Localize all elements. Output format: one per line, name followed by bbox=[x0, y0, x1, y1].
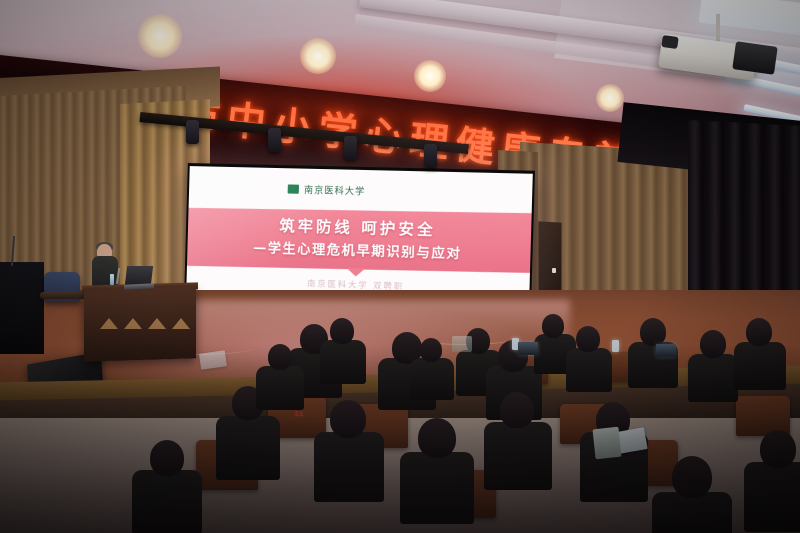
audience-member-head bbox=[268, 344, 292, 370]
laptop-icon bbox=[656, 344, 676, 357]
phone-icon bbox=[612, 340, 619, 352]
projection-screen: 南京医科大学 筑牢防线 呵护安全 —学生心理危机早期识别与应对 南京医科大学 双… bbox=[184, 163, 535, 307]
door-knob-icon[interactable] bbox=[552, 268, 556, 273]
audience-member-body bbox=[652, 492, 732, 533]
audience-member-body bbox=[566, 348, 612, 392]
laptop-icon bbox=[518, 342, 538, 355]
presenter-laptop-screen bbox=[125, 266, 153, 285]
water-bottle bbox=[110, 274, 114, 285]
projection-screen-surface: 南京医科大学 筑牢防线 呵护安全 —学生心理危机早期识别与应对 南京医科大学 双… bbox=[186, 166, 533, 303]
audience-member-body bbox=[256, 366, 304, 410]
downlight-icon bbox=[138, 14, 182, 58]
audience-member-body bbox=[410, 358, 454, 400]
university-logo-icon bbox=[288, 184, 299, 193]
slide-logo-text: 南京医科大学 bbox=[304, 183, 366, 198]
audience-member-head bbox=[150, 440, 184, 476]
audience-member-head bbox=[640, 318, 666, 346]
projector-mount bbox=[716, 14, 720, 44]
stage-spotlight-icon bbox=[344, 136, 357, 160]
stage-spotlight-icon bbox=[186, 120, 199, 144]
audience-member-head bbox=[542, 314, 564, 338]
audience-member-head bbox=[418, 418, 456, 458]
audience-member-body bbox=[688, 354, 738, 402]
audience-member-body bbox=[400, 452, 474, 524]
projector-rear-body bbox=[732, 41, 777, 75]
auditorium-photo: 全市中小学心理健康专兼职教师培训活动 南京医科大学 筑牢防线 呵护安全 —学生心… bbox=[0, 0, 800, 533]
audience-member-body bbox=[744, 462, 800, 532]
audience-member-head bbox=[746, 318, 772, 346]
stage-spotlight-icon bbox=[268, 128, 281, 152]
stage-spotlight-icon bbox=[424, 144, 437, 168]
audience-member-head bbox=[330, 318, 354, 344]
downlight-icon bbox=[300, 38, 336, 74]
tote-bag bbox=[452, 336, 472, 352]
audience-member-head bbox=[576, 326, 600, 352]
audience-member-head bbox=[500, 392, 534, 428]
audience-member-head bbox=[760, 430, 796, 468]
stage-chair-base bbox=[40, 292, 86, 299]
audience-member-body bbox=[734, 342, 786, 390]
audience-member-head bbox=[672, 456, 712, 498]
audience-member-head bbox=[420, 338, 442, 362]
audience-member-body bbox=[216, 416, 280, 480]
audience-member-body bbox=[320, 340, 366, 384]
tote-bag bbox=[593, 427, 622, 460]
audience-member-head bbox=[330, 400, 366, 438]
downlight-icon bbox=[414, 60, 446, 92]
audience-member-body bbox=[484, 422, 552, 490]
slide-band-notch-icon bbox=[346, 268, 365, 277]
audience-area: 1111 bbox=[0, 300, 800, 533]
projector-lens-icon bbox=[661, 35, 679, 49]
audience-member-body bbox=[132, 470, 202, 533]
downlight-icon bbox=[596, 84, 624, 112]
audience-member-body bbox=[314, 432, 384, 502]
handout-paper bbox=[199, 350, 227, 369]
slide-logo: 南京医科大学 bbox=[288, 182, 366, 197]
audience-member-head bbox=[700, 330, 726, 358]
seat-number: 11 bbox=[294, 410, 304, 418]
